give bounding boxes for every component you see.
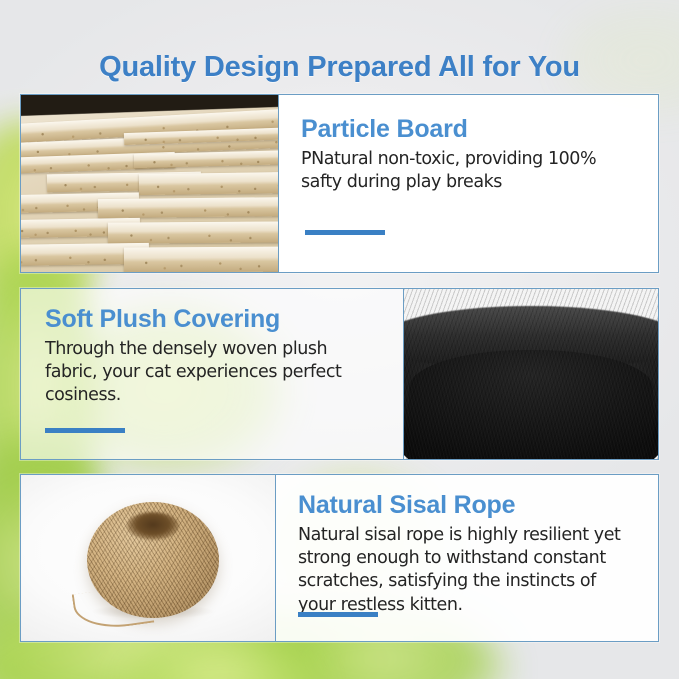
card-title-soft-plush-covering: Soft Plush Covering [45, 305, 383, 334]
card-body-particle-board: PNatural non-toxic, providing 100% safty… [301, 148, 632, 195]
feature-card-particle-board: Particle Board PNatural non-toxic, provi… [20, 94, 659, 273]
soft-plush-text-panel: Soft Plush Covering Through the densely … [21, 289, 403, 459]
page-title: Quality Design Prepared All for You [0, 51, 679, 84]
soft-plush-image [403, 289, 658, 459]
product-feature-infographic: Quality Design Prepared All for You Part… [0, 0, 679, 679]
sisal-rope-image [21, 475, 275, 641]
stacked-particle-board-panels-photo [21, 95, 278, 272]
foliage-blur-bottom-fill [120, 640, 320, 679]
accent-bar-natural-sisal-rope [298, 612, 378, 617]
card-body-soft-plush-covering: Through the densely woven plush fabric, … [45, 338, 383, 408]
particle-board-image [21, 95, 278, 272]
card-title-particle-board: Particle Board [301, 115, 632, 144]
feature-card-soft-plush-covering: Soft Plush Covering Through the densely … [20, 288, 659, 460]
particle-board-text-panel: Particle Board PNatural non-toxic, provi… [278, 95, 658, 272]
ball-of-natural-sisal-twine-photo [21, 475, 275, 641]
card-body-natural-sisal-rope: Natural sisal rope is highly resilient y… [298, 524, 636, 617]
sisal-rope-text-panel: Natural Sisal Rope Natural sisal rope is… [275, 475, 658, 641]
card-title-natural-sisal-rope: Natural Sisal Rope [298, 491, 636, 520]
accent-bar-particle-board [305, 230, 385, 235]
accent-bar-soft-plush-covering [45, 428, 125, 433]
black-plush-cat-bed-fabric-photo [404, 289, 658, 459]
feature-card-natural-sisal-rope: Natural Sisal Rope Natural sisal rope is… [20, 474, 659, 642]
